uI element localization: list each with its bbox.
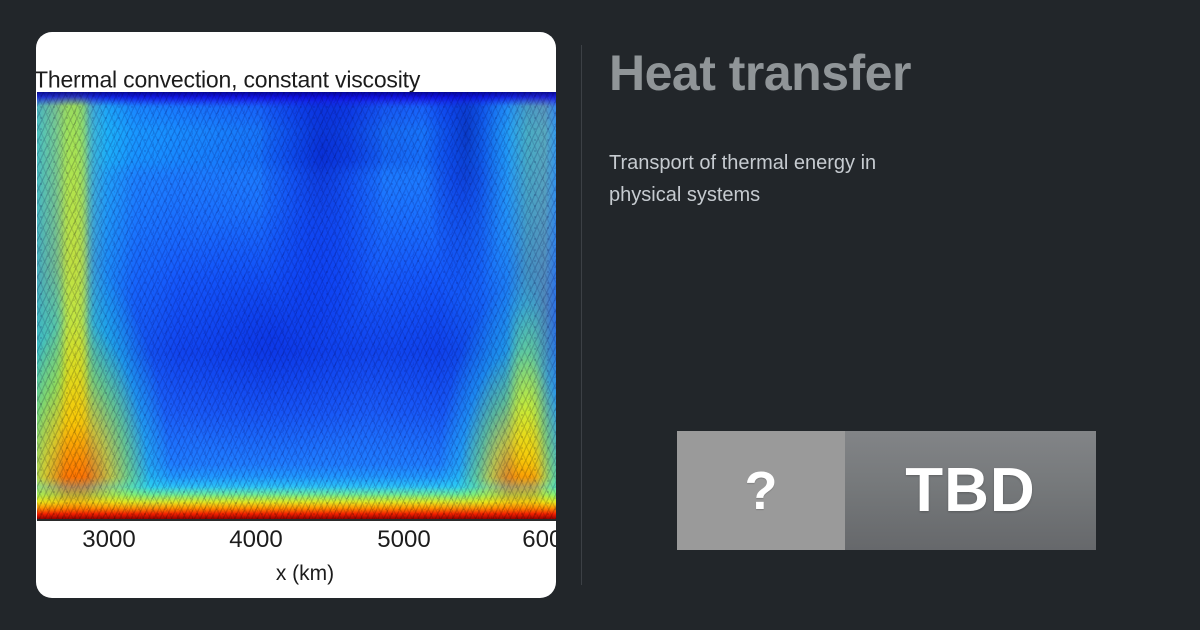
x-tick-label: 4000 (229, 526, 282, 554)
cold-lid-boundary-layer (37, 92, 556, 106)
hot-plume-left-core (63, 92, 87, 519)
info-panel: Heat transfer Transport of thermal energ… (609, 45, 1129, 211)
x-tick-label: 3000 (82, 526, 135, 554)
page-root: Thermal convection, constant viscosity 3… (0, 0, 1200, 630)
x-axis-label: x (km) (36, 562, 556, 586)
page-subtitle: Transport of thermal energy in physical … (609, 147, 949, 212)
hot-plume-left (37, 92, 187, 519)
figure-title: Thermal convection, constant viscosity (36, 67, 556, 94)
x-tick-label: 5000 (377, 526, 430, 554)
status-badge-value: TBD (845, 431, 1096, 550)
x-tick-label: 6000 (522, 526, 556, 554)
question-mark-icon: ? (677, 431, 845, 550)
panel-divider (581, 45, 582, 585)
question-mark-glyph: ? (745, 464, 778, 518)
page-title: Heat transfer (609, 45, 1129, 103)
figure-card: Thermal convection, constant viscosity 3… (36, 32, 556, 598)
status-badge-label: TBD (905, 460, 1035, 522)
hot-basal-boundary-layer (37, 477, 556, 519)
convection-heatmap (37, 92, 556, 519)
status-badge: ? TBD (677, 431, 1096, 550)
x-axis-ticks: 3000 4000 5000 6000 (36, 526, 556, 558)
